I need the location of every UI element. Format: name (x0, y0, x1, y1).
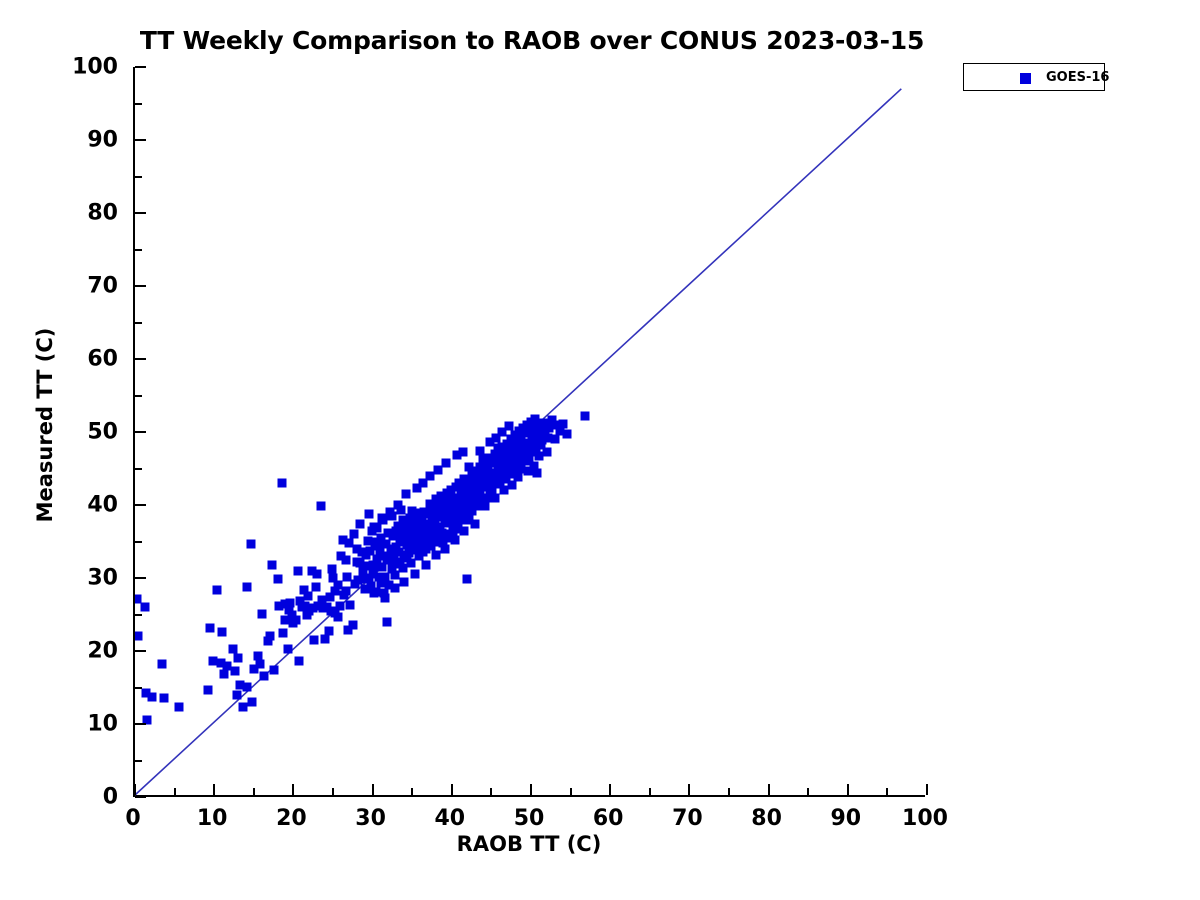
scatter-point (500, 486, 509, 495)
scatter-point (289, 619, 298, 628)
x-tick-label: 30 (355, 806, 386, 831)
scatter-point (373, 537, 382, 546)
scatter-point (175, 703, 184, 712)
scatter-point (277, 479, 286, 488)
y-tick-major (135, 577, 146, 579)
scatter-point (203, 686, 212, 695)
scatter-point (216, 658, 225, 667)
scatter-point (477, 470, 486, 479)
x-tick-major (372, 784, 374, 795)
x-tick-minor (649, 788, 651, 795)
scatter-point (336, 602, 345, 611)
x-tick-major (926, 784, 928, 795)
scatter-point (248, 698, 257, 707)
scatter-point (469, 487, 478, 496)
scatter-point (294, 657, 303, 666)
scatter-point (206, 623, 215, 632)
y-tick-label: 0 (0, 785, 118, 810)
scatter-point (157, 660, 166, 669)
x-tick-minor (253, 788, 255, 795)
scatter-point (257, 609, 266, 618)
x-tick-major (609, 784, 611, 795)
x-axis-label: RAOB TT (C) (133, 832, 925, 856)
y-tick-major (135, 285, 146, 287)
y-tick-minor (135, 249, 142, 251)
scatter-point (580, 411, 589, 420)
y-tick-major (135, 358, 146, 360)
scatter-point (555, 426, 564, 435)
scatter-point (401, 490, 410, 499)
scatter-point (493, 444, 502, 453)
x-tick-minor (411, 788, 413, 795)
scatter-point (321, 635, 330, 644)
y-tick-minor (135, 760, 142, 762)
scatter-point (441, 544, 450, 553)
scatter-point (311, 582, 320, 591)
scatter-point (411, 569, 420, 578)
scatter-point (279, 628, 288, 637)
scatter-point (273, 574, 282, 583)
scatter-point (504, 422, 513, 431)
scatter-point (395, 525, 404, 534)
y-tick-label: 10 (0, 712, 118, 737)
scatter-point (460, 526, 469, 535)
scatter-point (544, 433, 553, 442)
y-tick-label: 70 (0, 274, 118, 299)
x-tick-label: 70 (672, 806, 703, 831)
scatter-point (348, 621, 357, 630)
y-tick-label: 80 (0, 201, 118, 226)
scatter-point (487, 477, 496, 486)
chart-page: TT Weekly Comparison to RAOB over CONUS … (0, 0, 1200, 900)
scatter-point (243, 582, 252, 591)
scatter-point (563, 430, 572, 439)
x-tick-minor (174, 788, 176, 795)
x-tick-major (134, 784, 136, 795)
scatter-point (436, 498, 445, 507)
scatter-point (468, 479, 477, 488)
y-tick-minor (135, 614, 142, 616)
scatter-point (382, 553, 391, 562)
scatter-data-layer (135, 67, 925, 795)
y-tick-minor (135, 687, 142, 689)
scatter-point (481, 502, 490, 511)
scatter-point (341, 555, 350, 564)
scatter-point (303, 591, 312, 600)
scatter-point (465, 463, 474, 472)
x-tick-minor (886, 788, 888, 795)
y-tick-label: 50 (0, 420, 118, 445)
x-tick-minor (728, 788, 730, 795)
scatter-point (229, 644, 238, 653)
scatter-point (230, 667, 239, 676)
scatter-point (430, 509, 439, 518)
scatter-point (284, 606, 293, 615)
scatter-point (462, 575, 471, 584)
scatter-point (457, 501, 466, 510)
scatter-point (352, 557, 361, 566)
y-tick-major (135, 723, 146, 725)
scatter-point (503, 460, 512, 469)
plot-area (133, 67, 925, 797)
scatter-point (233, 654, 242, 663)
y-tick-major (135, 431, 146, 433)
scatter-point (365, 509, 374, 518)
scatter-point (393, 501, 402, 510)
scatter-point (530, 461, 539, 470)
scatter-point (268, 560, 277, 569)
scatter-point (275, 601, 284, 610)
y-tick-label: 30 (0, 566, 118, 591)
scatter-point (317, 502, 326, 511)
x-tick-label: 50 (514, 806, 545, 831)
scatter-point (545, 424, 554, 433)
x-tick-label: 100 (902, 806, 948, 831)
scatter-point (400, 578, 409, 587)
x-tick-label: 10 (197, 806, 228, 831)
y-tick-label: 100 (0, 55, 118, 80)
scatter-point (346, 601, 355, 610)
x-tick-label: 80 (751, 806, 782, 831)
page-title: TT Weekly Comparison to RAOB over CONUS … (0, 26, 1064, 55)
scatter-point (341, 587, 350, 596)
y-tick-major (135, 212, 146, 214)
y-tick-label: 20 (0, 639, 118, 664)
legend-item-label: GOES-16 (1046, 70, 1109, 85)
scatter-point (455, 483, 464, 492)
scatter-point (390, 584, 399, 593)
x-tick-label: 90 (830, 806, 861, 831)
scatter-point (398, 563, 407, 572)
scatter-point (294, 567, 303, 576)
x-tick-major (530, 784, 532, 795)
scatter-point (381, 594, 390, 603)
scatter-point (330, 587, 339, 596)
scatter-point (362, 550, 371, 559)
scatter-point (343, 572, 352, 581)
scatter-point (355, 519, 364, 528)
scatter-point (458, 448, 467, 457)
scatter-point (140, 603, 149, 612)
scatter-point (233, 690, 242, 699)
x-tick-major (213, 784, 215, 795)
scatter-point (471, 497, 480, 506)
scatter-point (349, 530, 358, 539)
y-tick-label: 60 (0, 347, 118, 372)
scatter-point (517, 455, 526, 464)
y-tick-major (135, 139, 146, 141)
y-tick-major (135, 66, 146, 68)
y-tick-major (135, 650, 146, 652)
scatter-point (446, 492, 455, 501)
x-tick-major (451, 784, 453, 795)
scatter-point (213, 585, 222, 594)
y-tick-minor (135, 395, 142, 397)
x-tick-major (688, 784, 690, 795)
scatter-point (386, 508, 395, 517)
scatter-point (433, 465, 442, 474)
scatter-point (148, 692, 157, 701)
x-tick-label: 20 (276, 806, 307, 831)
scatter-point (313, 570, 322, 579)
scatter-point (479, 454, 488, 463)
scatter-point (422, 560, 431, 569)
y-tick-label: 40 (0, 493, 118, 518)
x-tick-major (768, 784, 770, 795)
y-tick-major (135, 796, 146, 798)
scatter-point (246, 540, 255, 549)
y-axis-label: Measured TT (C) (33, 325, 57, 525)
x-tick-label: 60 (593, 806, 624, 831)
x-tick-major (847, 784, 849, 795)
x-tick-minor (332, 788, 334, 795)
scatter-point (490, 493, 499, 502)
scatter-point (325, 626, 334, 635)
scatter-point (283, 644, 292, 653)
x-tick-minor (807, 788, 809, 795)
scatter-point (218, 628, 227, 637)
x-tick-label: 0 (125, 806, 140, 831)
scatter-point (417, 512, 426, 521)
scatter-point (328, 565, 337, 574)
scatter-point (270, 665, 279, 674)
legend: GOES-16 (963, 63, 1105, 91)
scatter-point (378, 514, 387, 523)
scatter-point (317, 595, 326, 604)
scatter-point (447, 505, 456, 514)
scatter-point (264, 636, 273, 645)
scatter-point (450, 536, 459, 545)
x-tick-minor (490, 788, 492, 795)
scatter-point (370, 522, 379, 531)
scatter-point (256, 660, 265, 669)
scatter-point (295, 597, 304, 606)
scatter-point (219, 669, 228, 678)
scatter-point (370, 589, 379, 598)
scatter-point (159, 694, 168, 703)
scatter-point (260, 671, 269, 680)
scatter-point (382, 617, 391, 626)
scatter-point (408, 506, 417, 515)
scatter-point (344, 538, 353, 547)
scatter-point (470, 519, 479, 528)
x-tick-minor (570, 788, 572, 795)
scatter-point (507, 480, 516, 489)
scatter-point (280, 616, 289, 625)
scatter-point (242, 682, 251, 691)
y-tick-major (135, 504, 146, 506)
y-tick-minor (135, 322, 142, 324)
scatter-point (333, 613, 342, 622)
scatter-point (442, 458, 451, 467)
scatter-point (135, 631, 143, 640)
y-tick-label: 90 (0, 128, 118, 153)
y-tick-minor (135, 176, 142, 178)
y-tick-minor (135, 103, 142, 105)
scatter-point (405, 521, 414, 530)
y-tick-minor (135, 468, 142, 470)
scatter-point (431, 550, 440, 559)
legend-marker-icon (1020, 73, 1031, 84)
scatter-point (309, 636, 318, 645)
x-tick-major (292, 784, 294, 795)
scatter-point (238, 703, 247, 712)
y-tick-minor (135, 541, 142, 543)
x-tick-label: 40 (434, 806, 465, 831)
